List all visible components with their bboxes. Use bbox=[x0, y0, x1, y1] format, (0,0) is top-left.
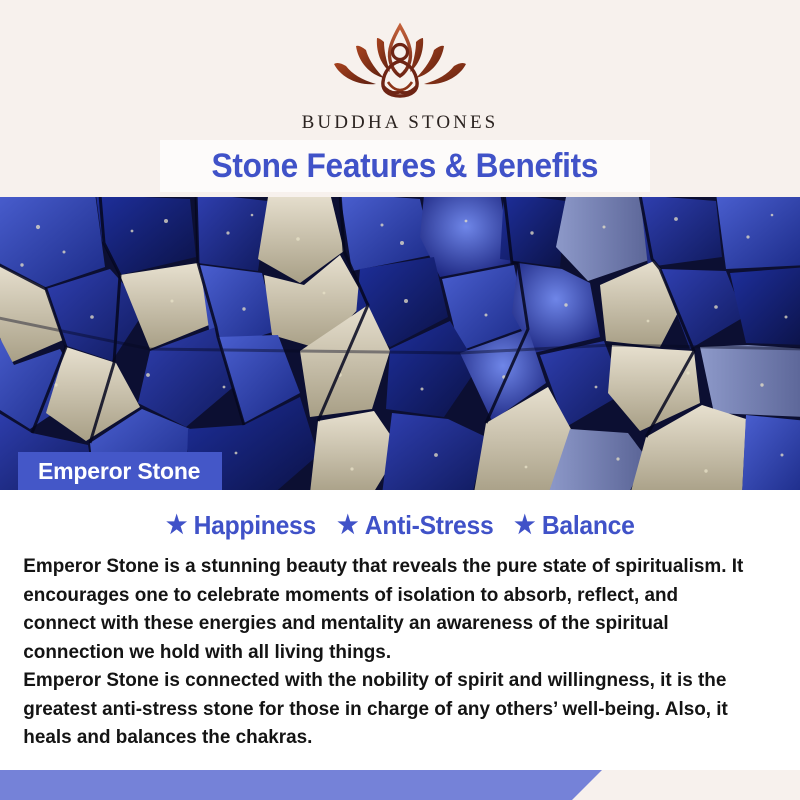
benefit-item-happiness: ★ Happiness bbox=[166, 510, 316, 541]
star-icon: ★ bbox=[337, 513, 358, 538]
stone-name-badge: Emperor Stone bbox=[18, 452, 222, 492]
benefit-label: Balance bbox=[542, 510, 635, 541]
description-block: Emperor Stone is a stunning beauty that … bbox=[0, 552, 776, 752]
star-icon: ★ bbox=[166, 513, 187, 538]
page-title: Stone Features & Benefits bbox=[212, 147, 599, 186]
description-paragraph-2: Emperor Stone is connected with the nobi… bbox=[23, 666, 752, 752]
stone-photo bbox=[0, 197, 800, 490]
benefit-label: Anti-Stress bbox=[365, 510, 494, 541]
stone-name-label: Emperor Stone bbox=[38, 458, 200, 484]
brand-header: BUDDHA STONES bbox=[0, 0, 800, 150]
brand-name: BUDDHA STONES bbox=[302, 112, 499, 134]
content-panel: ★ Happiness ★ Anti-Stress ★ Balance Empe… bbox=[0, 490, 800, 770]
lotus-meditation-icon bbox=[314, 20, 486, 106]
benefit-item-balance: ★ Balance bbox=[514, 510, 634, 541]
description-paragraph-1: Emperor Stone is a stunning beauty that … bbox=[23, 552, 752, 666]
title-panel: Stone Features & Benefits bbox=[160, 140, 650, 192]
frame-band-bottom bbox=[0, 767, 605, 800]
benefits-row: ★ Happiness ★ Anti-Stress ★ Balance bbox=[0, 490, 800, 541]
benefit-label: Happiness bbox=[194, 510, 316, 541]
star-icon: ★ bbox=[514, 513, 535, 538]
benefit-item-anti-stress: ★ Anti-Stress bbox=[337, 510, 493, 541]
infographic-page: BUDDHA STONES Stone Features & Benefits bbox=[0, 0, 800, 800]
